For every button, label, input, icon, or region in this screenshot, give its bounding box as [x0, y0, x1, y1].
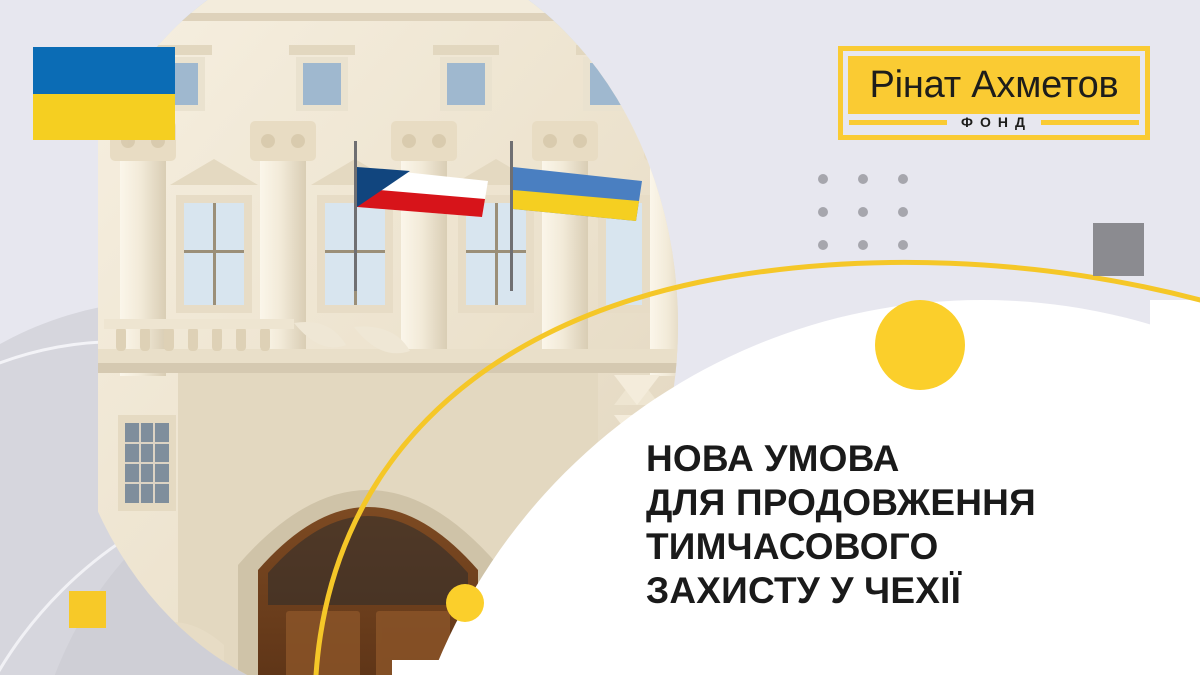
- logo-name-text: Рінат Ахметов: [869, 66, 1118, 104]
- flag-band-yellow: [33, 94, 175, 141]
- decor-yellow-circle-large: [875, 300, 965, 390]
- grid-dot: [818, 174, 828, 184]
- foundation-logo: Рінат Ахметов ФОНД: [838, 46, 1150, 140]
- headline-line-4: ЗАХИСТУ У ЧЕХІЇ: [646, 569, 1166, 613]
- logo-name-bar: Рінат Ахметов: [848, 56, 1140, 114]
- decor-gray-square: [1093, 223, 1144, 276]
- logo-subtitle-text: ФОНД: [956, 114, 1032, 130]
- ukraine-flag-badge: [33, 47, 175, 140]
- decor-yellow-square: [69, 591, 106, 628]
- decor-yellow-circle-small: [446, 584, 484, 622]
- headline: НОВА УМОВА ДЛЯ ПРОДОВЖЕННЯ ТИМЧАСОВОГО З…: [646, 437, 1166, 613]
- grid-dot: [858, 174, 868, 184]
- logo-subtitle-row: ФОНД: [848, 114, 1140, 130]
- headline-line-1: НОВА УМОВА: [646, 437, 1166, 481]
- grid-dot: [898, 174, 908, 184]
- grid-dot: [898, 240, 908, 250]
- decor-dot-grid: [818, 174, 938, 273]
- flag-band-blue: [33, 47, 175, 94]
- headline-line-2: ДЛЯ ПРОДОВЖЕННЯ: [646, 481, 1166, 525]
- grid-dot: [818, 207, 828, 217]
- grid-dot: [858, 240, 868, 250]
- white-panel-bottom-fill: [392, 660, 1200, 675]
- logo-rule-right: [1041, 120, 1139, 125]
- logo-rule-left: [849, 120, 947, 125]
- grid-dot: [898, 207, 908, 217]
- grid-dot: [818, 240, 828, 250]
- poster-canvas: Рінат Ахметов ФОНД НОВА УМОВА ДЛЯ ПРОДОВ…: [0, 0, 1200, 675]
- grid-dot: [858, 207, 868, 217]
- headline-line-3: ТИМЧАСОВОГО: [646, 525, 1166, 569]
